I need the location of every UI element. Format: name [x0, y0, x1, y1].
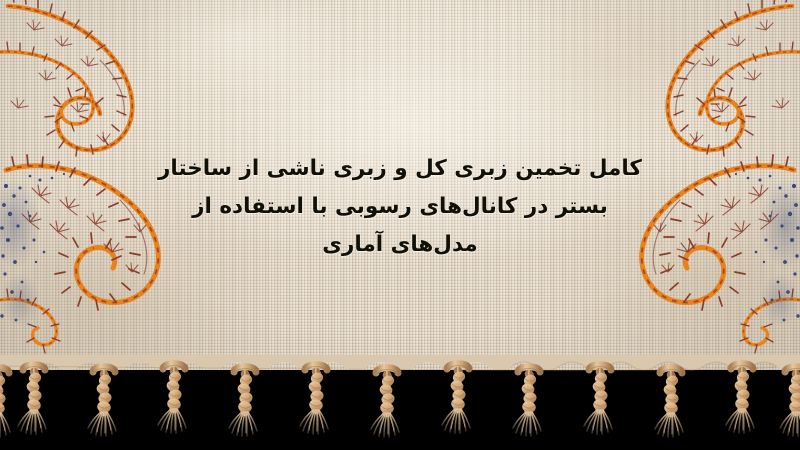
title-line-1: کامل تخمین زبری کل و زبری ناشی از ساختار: [0, 150, 800, 188]
slide-title: کامل تخمین زبری کل و زبری ناشی از ساختار…: [0, 150, 800, 264]
title-line-3: مدل‌های آماری: [0, 226, 800, 264]
black-backdrop: [0, 370, 800, 450]
title-slide: کامل تخمین زبری کل و زبری ناشی از ساختار…: [0, 0, 800, 450]
title-line-2: بستر در کانال‌های رسوبی با استفاده از: [0, 188, 800, 226]
